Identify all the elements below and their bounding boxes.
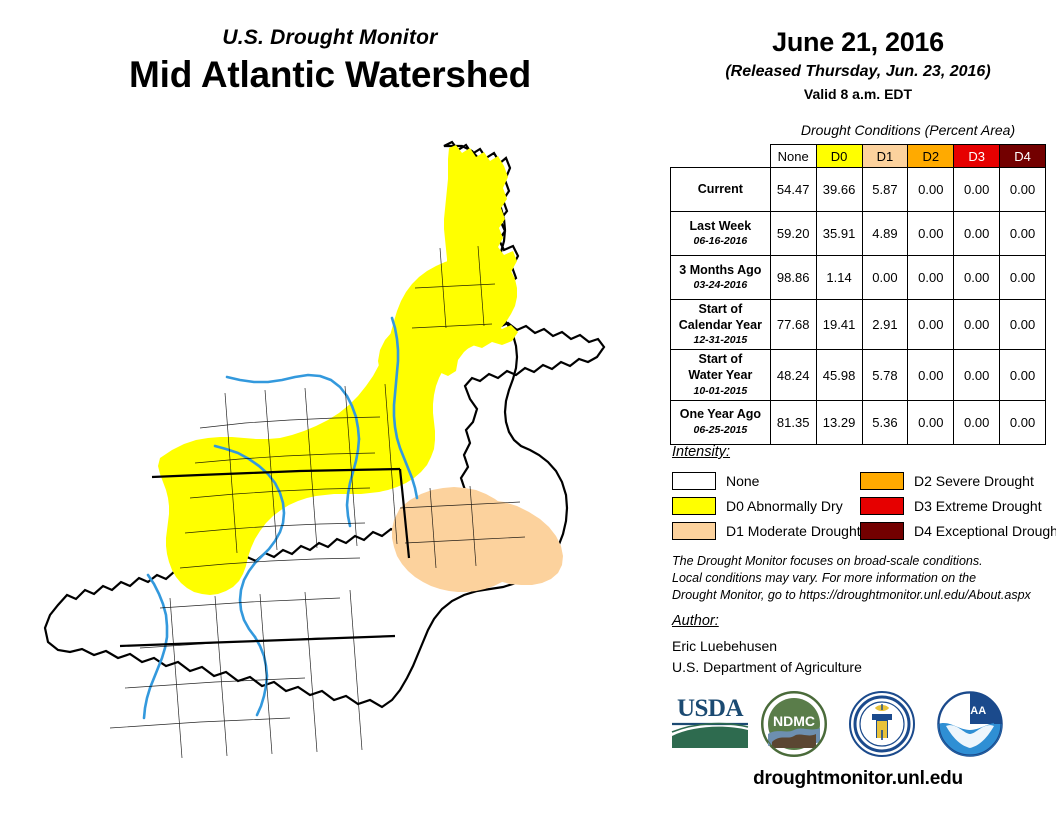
legend-label-d4: D4 Exceptional Drought [914, 523, 1056, 539]
cell-cy-d0: 19.41 [816, 300, 862, 350]
table-row: Start ofCalendar Year 12-31-2015 77.68 1… [671, 300, 1046, 350]
cell-wy-d2: 0.00 [908, 350, 954, 400]
author-heading: Author: [672, 613, 719, 629]
legend-swatch-d2 [860, 472, 904, 490]
row-label-text: Last Week [690, 219, 752, 233]
cell-1yr-none: 81.35 [770, 400, 816, 444]
table-header-row: None D0 D1 D2 D3 D4 [671, 145, 1046, 168]
usda-logo-text: USDA [677, 695, 744, 722]
legend-label-d2: D2 Severe Drought [914, 473, 1034, 489]
column-header-d1: D1 [862, 145, 908, 168]
row-label-text: 3 Months Ago [679, 263, 761, 277]
disclaimer-line-3: Drought Monitor, go to https://droughtmo… [672, 587, 1052, 604]
cell-3mo-d0: 1.14 [816, 256, 862, 300]
legend-label-d1: D1 Moderate Drought [726, 523, 861, 539]
legend-item-d2: D2 Severe Drought [860, 468, 1056, 493]
table-row: Current 54.47 39.66 5.87 0.00 0.00 0.00 [671, 168, 1046, 212]
legend-swatch-none [672, 472, 716, 490]
column-header-d4: D4 [1000, 145, 1046, 168]
legend-column-right: D2 Severe Drought D3 Extreme Drought D4 … [860, 468, 1056, 543]
legend-swatch-d3 [860, 497, 904, 515]
table-row: Start ofWater Year 10-01-2015 48.24 45.9… [671, 350, 1046, 400]
date-block: June 21, 2016 (Released Thursday, Jun. 2… [660, 28, 1056, 102]
cell-last-week-none: 59.20 [770, 212, 816, 256]
row-label-text: Start ofCalendar Year [679, 302, 762, 332]
intensity-heading: Intensity: [672, 444, 730, 460]
cell-1yr-d4: 0.00 [1000, 400, 1046, 444]
disclaimer-line-1: The Drought Monitor focuses on broad-sca… [672, 553, 1052, 570]
logo-row: USDA NDMC [660, 690, 1056, 760]
cell-cy-d2: 0.00 [908, 300, 954, 350]
noaa-logo-text: NOAA [954, 705, 986, 717]
legend-label-d0: D0 Abnormally Dry [726, 498, 843, 514]
cell-last-week-d1: 4.89 [862, 212, 908, 256]
column-header-d2: D2 [908, 145, 954, 168]
cell-wy-none: 48.24 [770, 350, 816, 400]
cell-cy-d4: 0.00 [1000, 300, 1046, 350]
legend-item-d3: D3 Extreme Drought [860, 493, 1056, 518]
cell-3mo-d4: 0.00 [1000, 256, 1046, 300]
valid-time: Valid 8 a.m. EDT [660, 86, 1056, 102]
website-url[interactable]: droughtmonitor.unl.edu [660, 768, 1056, 790]
cell-wy-d0: 45.98 [816, 350, 862, 400]
row-label-start-calendar-year: Start ofCalendar Year 12-31-2015 [671, 300, 771, 350]
cell-3mo-none: 98.86 [770, 256, 816, 300]
cell-3mo-d2: 0.00 [908, 256, 954, 300]
cell-current-none: 54.47 [770, 168, 816, 212]
legend-label-none: None [726, 473, 759, 489]
cell-current-d4: 0.00 [1000, 168, 1046, 212]
usdc-seal[interactable] [848, 690, 916, 758]
release-date: (Released Thursday, Jun. 23, 2016) [660, 63, 1056, 81]
ndmc-logo[interactable]: NDMC [760, 690, 828, 758]
author-block: Eric Luebehusen U.S. Department of Agric… [672, 636, 862, 678]
cell-current-d0: 39.66 [816, 168, 862, 212]
legend-column-left: None D0 Abnormally Dry D1 Moderate Droug… [672, 468, 861, 543]
row-label-date: 12-31-2015 [675, 334, 766, 347]
author-name: Eric Luebehusen [672, 636, 862, 657]
legend-item-d0: D0 Abnormally Dry [672, 493, 861, 518]
legend-item-none: None [672, 468, 861, 493]
row-label-one-year-ago: One Year Ago 06-25-2015 [671, 400, 771, 444]
row-label-date: 03-24-2016 [675, 279, 766, 292]
table-caption: Drought Conditions (Percent Area) [760, 122, 1056, 138]
info-panel: June 21, 2016 (Released Thursday, Jun. 2… [660, 0, 1056, 816]
row-label-text: Start ofWater Year [688, 352, 752, 382]
cell-1yr-d1: 5.36 [862, 400, 908, 444]
row-label-current: Current [671, 168, 771, 212]
drought-map[interactable] [0, 128, 660, 816]
cell-wy-d4: 0.00 [1000, 350, 1046, 400]
table-row: Last Week 06-16-2016 59.20 35.91 4.89 0.… [671, 212, 1046, 256]
column-header-d3: D3 [954, 145, 1000, 168]
row-label-date: 06-25-2015 [675, 424, 766, 437]
column-header-none: None [770, 145, 816, 168]
table-body: Current 54.47 39.66 5.87 0.00 0.00 0.00 … [671, 168, 1046, 445]
cell-current-d3: 0.00 [954, 168, 1000, 212]
legend-swatch-d0 [672, 497, 716, 515]
program-title: U.S. Drought Monitor [0, 26, 660, 49]
cell-1yr-d0: 13.29 [816, 400, 862, 444]
legend-item-d1: D1 Moderate Drought [672, 518, 861, 543]
cell-3mo-d3: 0.00 [954, 256, 1000, 300]
map-panel: U.S. Drought Monitor Mid Atlantic Waters… [0, 0, 660, 816]
legend-swatch-d1 [672, 522, 716, 540]
cell-wy-d1: 5.78 [862, 350, 908, 400]
drought-conditions-table: None D0 D1 D2 D3 D4 Current 54.47 39.66 … [670, 144, 1046, 445]
row-label-text: Current [698, 182, 743, 196]
table-corner-cell [671, 145, 771, 168]
author-affiliation: U.S. Department of Agriculture [672, 657, 862, 678]
cell-cy-d1: 2.91 [862, 300, 908, 350]
title-block: U.S. Drought Monitor Mid Atlantic Waters… [0, 26, 660, 97]
disclaimer-text: The Drought Monitor focuses on broad-sca… [672, 553, 1052, 604]
noaa-logo[interactable]: NOAA [936, 690, 1004, 758]
cell-current-d1: 5.87 [862, 168, 908, 212]
row-label-start-water-year: Start ofWater Year 10-01-2015 [671, 350, 771, 400]
cell-last-week-d2: 0.00 [908, 212, 954, 256]
column-header-d0: D0 [816, 145, 862, 168]
legend-swatch-d4 [860, 522, 904, 540]
usda-logo[interactable]: USDA [668, 690, 752, 754]
cell-3mo-d1: 0.00 [862, 256, 908, 300]
cell-current-d2: 0.00 [908, 168, 954, 212]
row-label-date: 10-01-2015 [675, 385, 766, 398]
row-label-text: One Year Ago [680, 407, 761, 421]
page-title: Mid Atlantic Watershed [0, 54, 660, 97]
map-date: June 21, 2016 [660, 28, 1056, 58]
cell-last-week-d0: 35.91 [816, 212, 862, 256]
cell-cy-none: 77.68 [770, 300, 816, 350]
legend-item-d4: D4 Exceptional Drought [860, 518, 1056, 543]
row-label-date: 06-16-2016 [675, 235, 766, 248]
legend-label-d3: D3 Extreme Drought [914, 498, 1042, 514]
table-row: One Year Ago 06-25-2015 81.35 13.29 5.36… [671, 400, 1046, 444]
cell-cy-d3: 0.00 [954, 300, 1000, 350]
row-label-3-months-ago: 3 Months Ago 03-24-2016 [671, 256, 771, 300]
cell-last-week-d4: 0.00 [1000, 212, 1046, 256]
table-row: 3 Months Ago 03-24-2016 98.86 1.14 0.00 … [671, 256, 1046, 300]
ndmc-logo-text: NDMC [773, 713, 815, 729]
row-label-last-week: Last Week 06-16-2016 [671, 212, 771, 256]
disclaimer-line-2: Local conditions may vary. For more info… [672, 570, 1052, 587]
cell-wy-d3: 0.00 [954, 350, 1000, 400]
cell-last-week-d3: 0.00 [954, 212, 1000, 256]
cell-1yr-d3: 0.00 [954, 400, 1000, 444]
cell-1yr-d2: 0.00 [908, 400, 954, 444]
